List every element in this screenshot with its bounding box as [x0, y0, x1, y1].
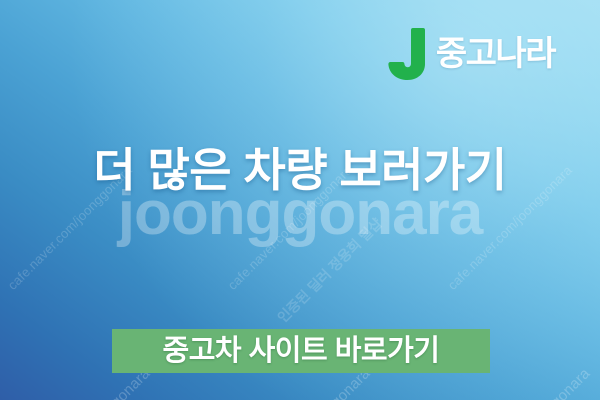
korean-watermark: 인증된 딜러 정용희 딜샵: [273, 214, 386, 327]
joonggonara-j-mark-icon: [383, 26, 427, 82]
promotional-banner: cafe.naver.com/joonggonaracafe.naver.com…: [0, 0, 600, 400]
cta-button[interactable]: 중고차 사이트 바로가기: [112, 329, 490, 373]
brand-logo[interactable]: 중고나라: [383, 26, 555, 82]
headline-text: 더 많은 차량 보러가기: [0, 143, 600, 197]
cta-button-label: 중고차 사이트 바로가기: [163, 337, 440, 366]
brand-logo-text: 중고나라: [436, 37, 555, 71]
